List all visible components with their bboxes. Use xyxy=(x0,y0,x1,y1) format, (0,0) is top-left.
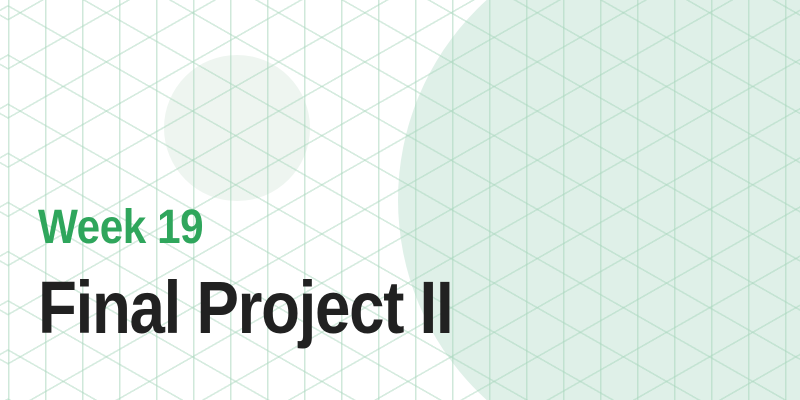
page-title: Final Project II xyxy=(38,268,640,348)
banner-text-block: Week 19 Final Project II xyxy=(38,200,738,348)
pale-circle-shape xyxy=(164,55,310,201)
week-banner: Week 19 Final Project II xyxy=(0,0,800,400)
week-label: Week 19 xyxy=(38,200,654,256)
